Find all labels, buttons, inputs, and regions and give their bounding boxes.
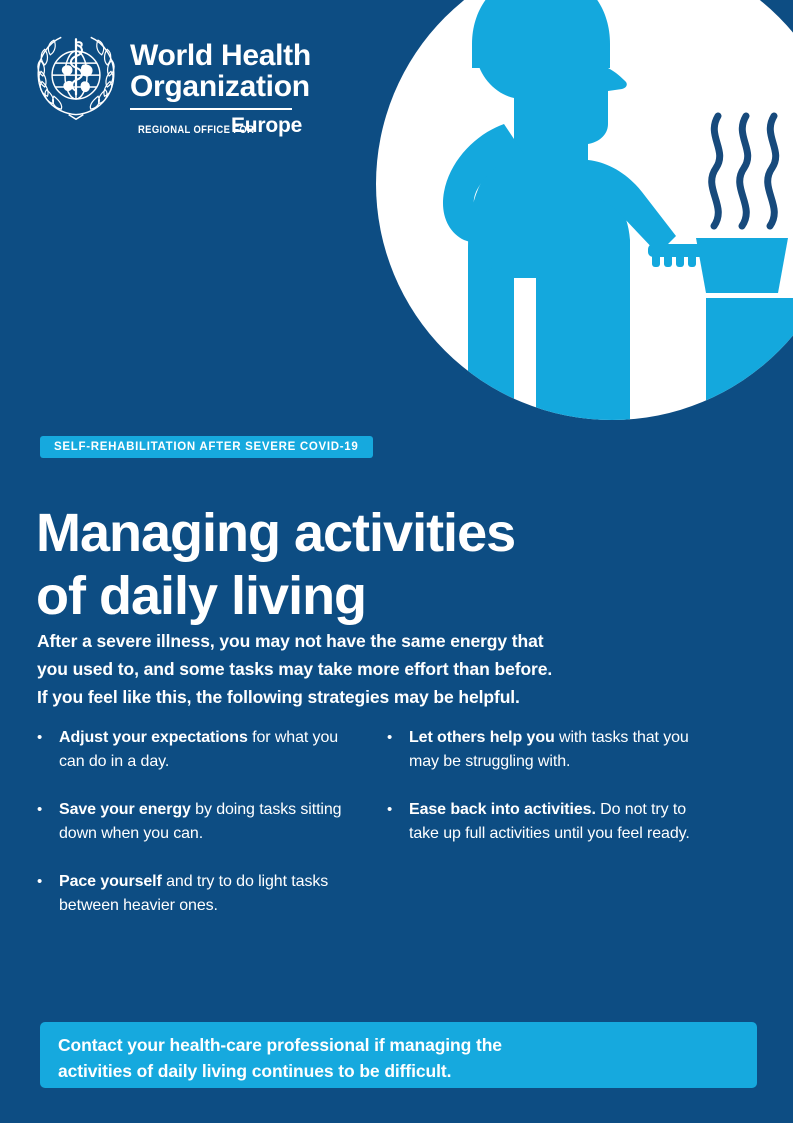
list-item-lead: Let others help you — [409, 729, 555, 746]
bullet-marker-icon: • — [383, 798, 409, 846]
list-item-text: Pace yourself and try to do light tasks … — [59, 870, 363, 918]
logo-region-name: Europe — [231, 114, 302, 138]
bullet-marker-icon: • — [383, 726, 409, 774]
list-item-lead: Adjust your expectations — [59, 729, 248, 746]
who-emblem-icon — [30, 30, 122, 122]
who-logo: World Health Organization REGIONAL OFFIC… — [30, 28, 311, 136]
strategies-column-left: • Adjust your expectations for what you … — [33, 726, 363, 942]
callout-text: Contact your health-care professional if… — [58, 1032, 739, 1084]
page-title-line-1: Managing activities — [36, 502, 676, 565]
strategies-column-right: • Let others help you with tasks that yo… — [383, 726, 713, 942]
series-badge-label: SELF-REHABILITATION AFTER SEVERE COVID-1… — [54, 441, 359, 453]
poster-page: World Health Organization REGIONAL OFFIC… — [0, 0, 793, 1123]
intro-paragraph: After a severe illness, you may not have… — [37, 627, 697, 711]
logo-divider — [130, 108, 292, 110]
list-item: • Save your energy by doing tasks sittin… — [33, 798, 363, 846]
series-badge: SELF-REHABILITATION AFTER SEVERE COVID-1… — [40, 436, 373, 458]
list-item: • Pace yourself and try to do light task… — [33, 870, 363, 918]
intro-line-3: If you feel like this, the following str… — [37, 683, 697, 711]
logo-line-organization: Organization — [130, 71, 311, 102]
intro-line-1: After a severe illness, you may not have… — [37, 627, 697, 655]
list-item-text: Ease back into activities. Do not try to… — [409, 798, 713, 846]
bullet-marker-icon: • — [33, 726, 59, 774]
logo-region: REGIONAL OFFICE FOR Europe — [130, 112, 292, 136]
logo-line-world-health: World Health — [130, 40, 311, 71]
list-item: • Let others help you with tasks that yo… — [383, 726, 713, 774]
bullet-marker-icon: • — [33, 798, 59, 846]
person-cooking-illustration — [376, 0, 793, 420]
list-item: • Ease back into activities. Do not try … — [383, 798, 713, 846]
list-item-lead: Save your energy — [59, 801, 191, 818]
list-item-text: Adjust your expectations for what you ca… — [59, 726, 363, 774]
intro-line-2: you used to, and some tasks may take mor… — [37, 655, 697, 683]
list-item-text: Let others help you with tasks that you … — [409, 726, 713, 774]
list-item: • Adjust your expectations for what you … — [33, 726, 363, 774]
list-item-lead: Pace yourself — [59, 873, 162, 890]
strategies-columns: • Adjust your expectations for what you … — [33, 726, 753, 942]
bullet-marker-icon: • — [33, 870, 59, 918]
callout-box: Contact your health-care professional if… — [40, 1022, 757, 1088]
list-item-text: Save your energy by doing tasks sitting … — [59, 798, 363, 846]
page-title: Managing activities of daily living — [36, 502, 676, 628]
list-item-lead: Ease back into activities. — [409, 801, 596, 818]
page-title-line-2: of daily living — [36, 565, 676, 628]
callout-line-2: activities of daily living continues to … — [58, 1058, 739, 1084]
callout-line-1: Contact your health-care professional if… — [58, 1032, 739, 1058]
